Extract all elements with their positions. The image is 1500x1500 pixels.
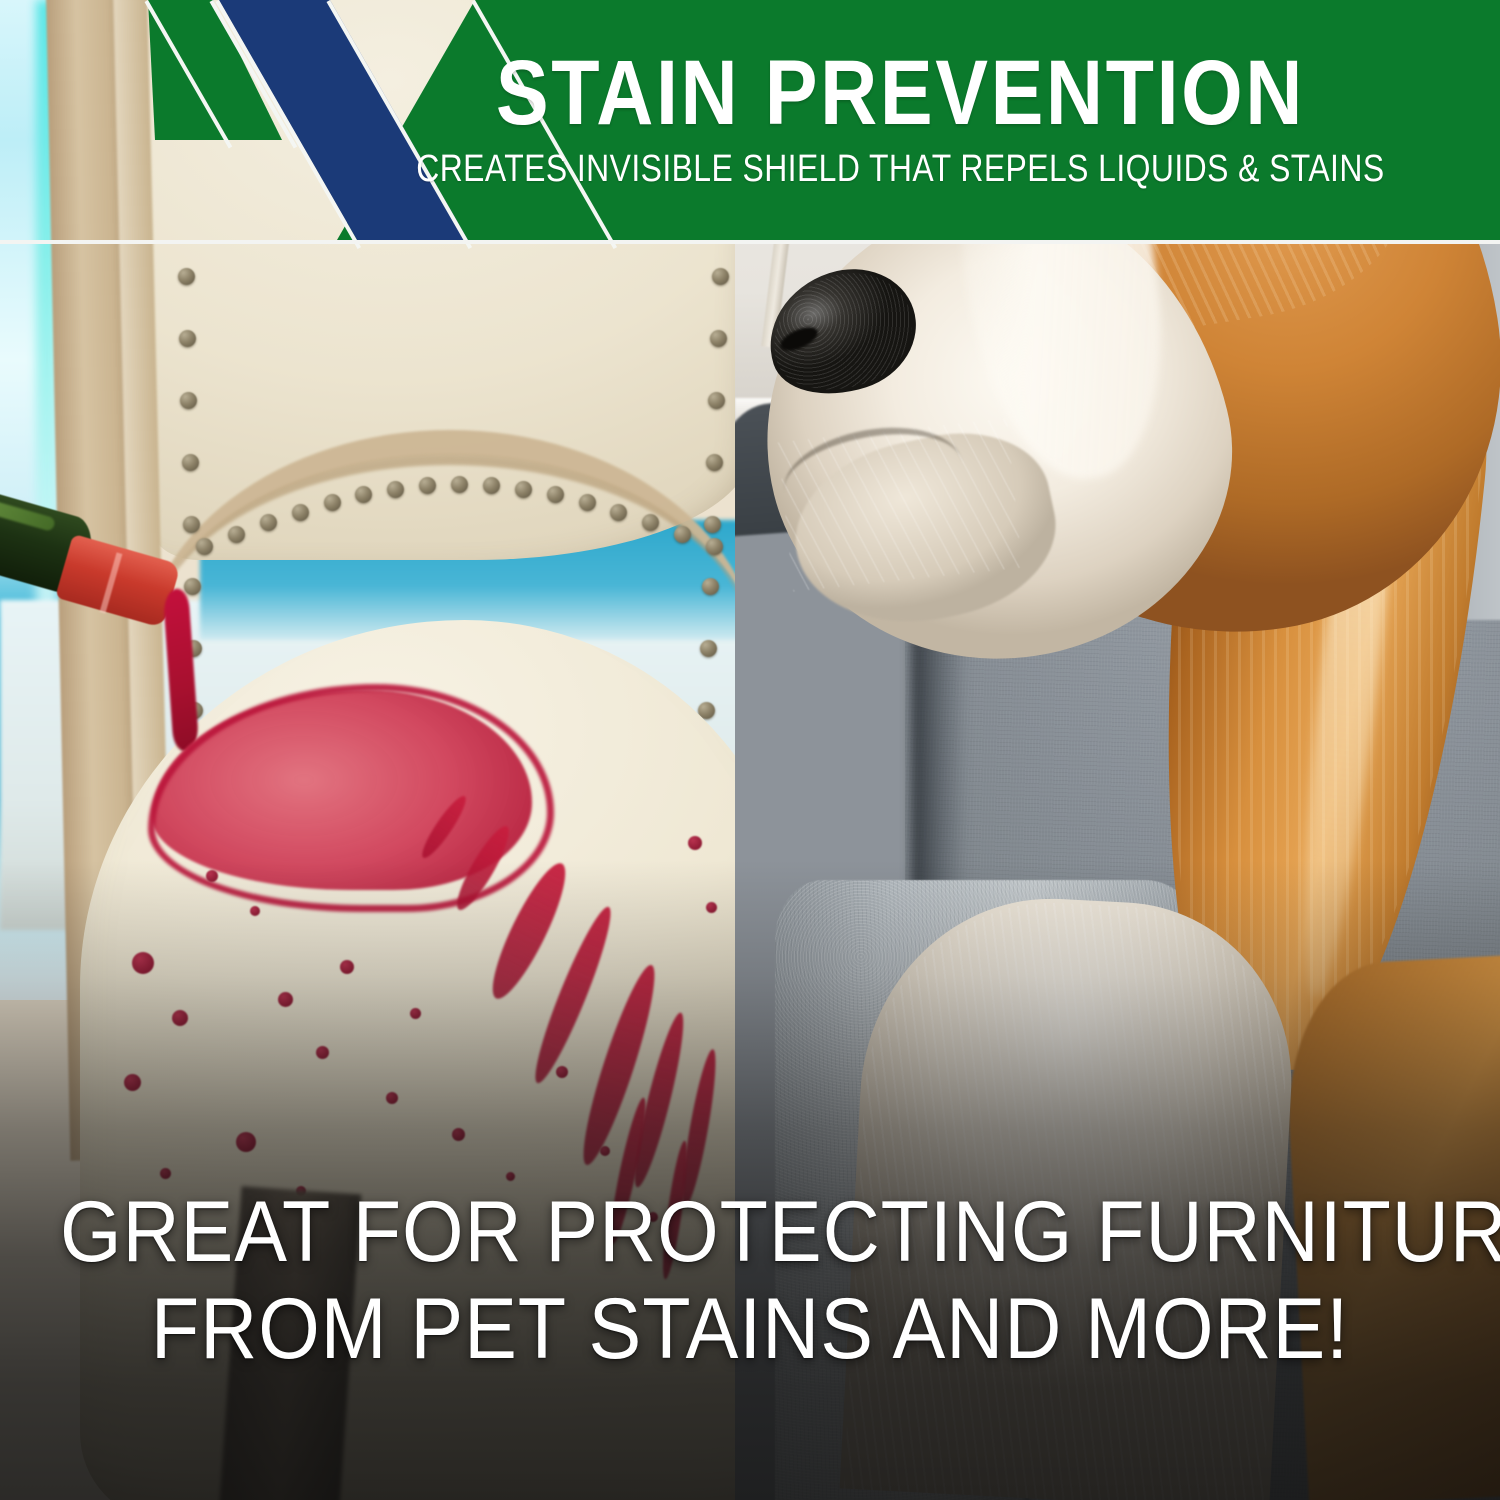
nailhead-stud: [708, 392, 725, 409]
bottom-headline: GREAT FOR PROTECTING FURNITURE FROM PET …: [0, 1187, 1500, 1374]
top-banner: STAIN PREVENTION CREATES INVISIBLE SHIEL…: [0, 0, 1500, 244]
nailhead-stud: [702, 578, 719, 595]
nailhead-stud: [196, 538, 213, 555]
nailhead-stud: [483, 477, 500, 494]
banner-subtitle: CREATES INVISIBLE SHIELD THAT REPELS LIQ…: [416, 148, 1384, 191]
nailhead-stud: [547, 486, 564, 503]
nailhead-stud: [704, 516, 721, 533]
nailhead-stud: [579, 494, 596, 511]
wine-droplet: [278, 992, 293, 1007]
bottom-headline-line-1: GREAT FOR PROTECTING FURNITURE: [60, 1187, 1440, 1277]
wine-droplet: [386, 1092, 398, 1104]
nailhead-stud: [182, 454, 199, 471]
wine-droplet: [452, 1128, 465, 1141]
nailhead-stud: [706, 454, 723, 471]
nailhead-stud: [700, 640, 717, 657]
wine-droplet: [556, 1066, 568, 1078]
wine-droplet: [132, 952, 154, 974]
banner-text-block: STAIN PREVENTION CREATES INVISIBLE SHIEL…: [0, 0, 1500, 240]
nailhead-stud: [324, 494, 341, 511]
wine-droplet: [506, 1172, 515, 1181]
nailhead-stud: [610, 504, 627, 521]
nailhead-stud: [178, 268, 195, 285]
wine-droplet: [600, 1146, 610, 1156]
bottom-headline-line-2: FROM PET STAINS AND MORE!: [60, 1284, 1440, 1374]
nailhead-stud: [228, 526, 245, 543]
wine-droplet: [410, 1008, 421, 1019]
nailhead-stud: [183, 516, 200, 533]
wine-droplet: [172, 1010, 188, 1026]
wine-droplet: [124, 1074, 141, 1091]
nailhead-stud: [710, 330, 727, 347]
nailhead-stud: [515, 481, 532, 498]
nailhead-stud: [292, 504, 309, 521]
wine-droplet: [340, 960, 354, 974]
wine-droplet: [250, 906, 260, 916]
wine-droplet: [316, 1046, 329, 1059]
nailhead-stud: [184, 578, 201, 595]
nailhead-stud: [706, 538, 723, 555]
banner-bottom-rule: [0, 240, 1500, 244]
product-marketing-image: STAIN PREVENTION CREATES INVISIBLE SHIEL…: [0, 0, 1500, 1500]
banner-title: STAIN PREVENTION: [495, 49, 1304, 137]
nailhead-stud: [451, 476, 468, 493]
wine-droplet: [706, 902, 717, 913]
nailhead-stud: [674, 526, 691, 543]
nailhead-stud: [260, 514, 277, 531]
wine-droplet: [160, 1168, 171, 1179]
nailhead-stud: [387, 481, 404, 498]
wine-droplet: [206, 870, 218, 882]
wine-droplet: [236, 1132, 256, 1152]
nailhead-stud: [712, 268, 729, 285]
wine-droplet: [688, 836, 702, 850]
